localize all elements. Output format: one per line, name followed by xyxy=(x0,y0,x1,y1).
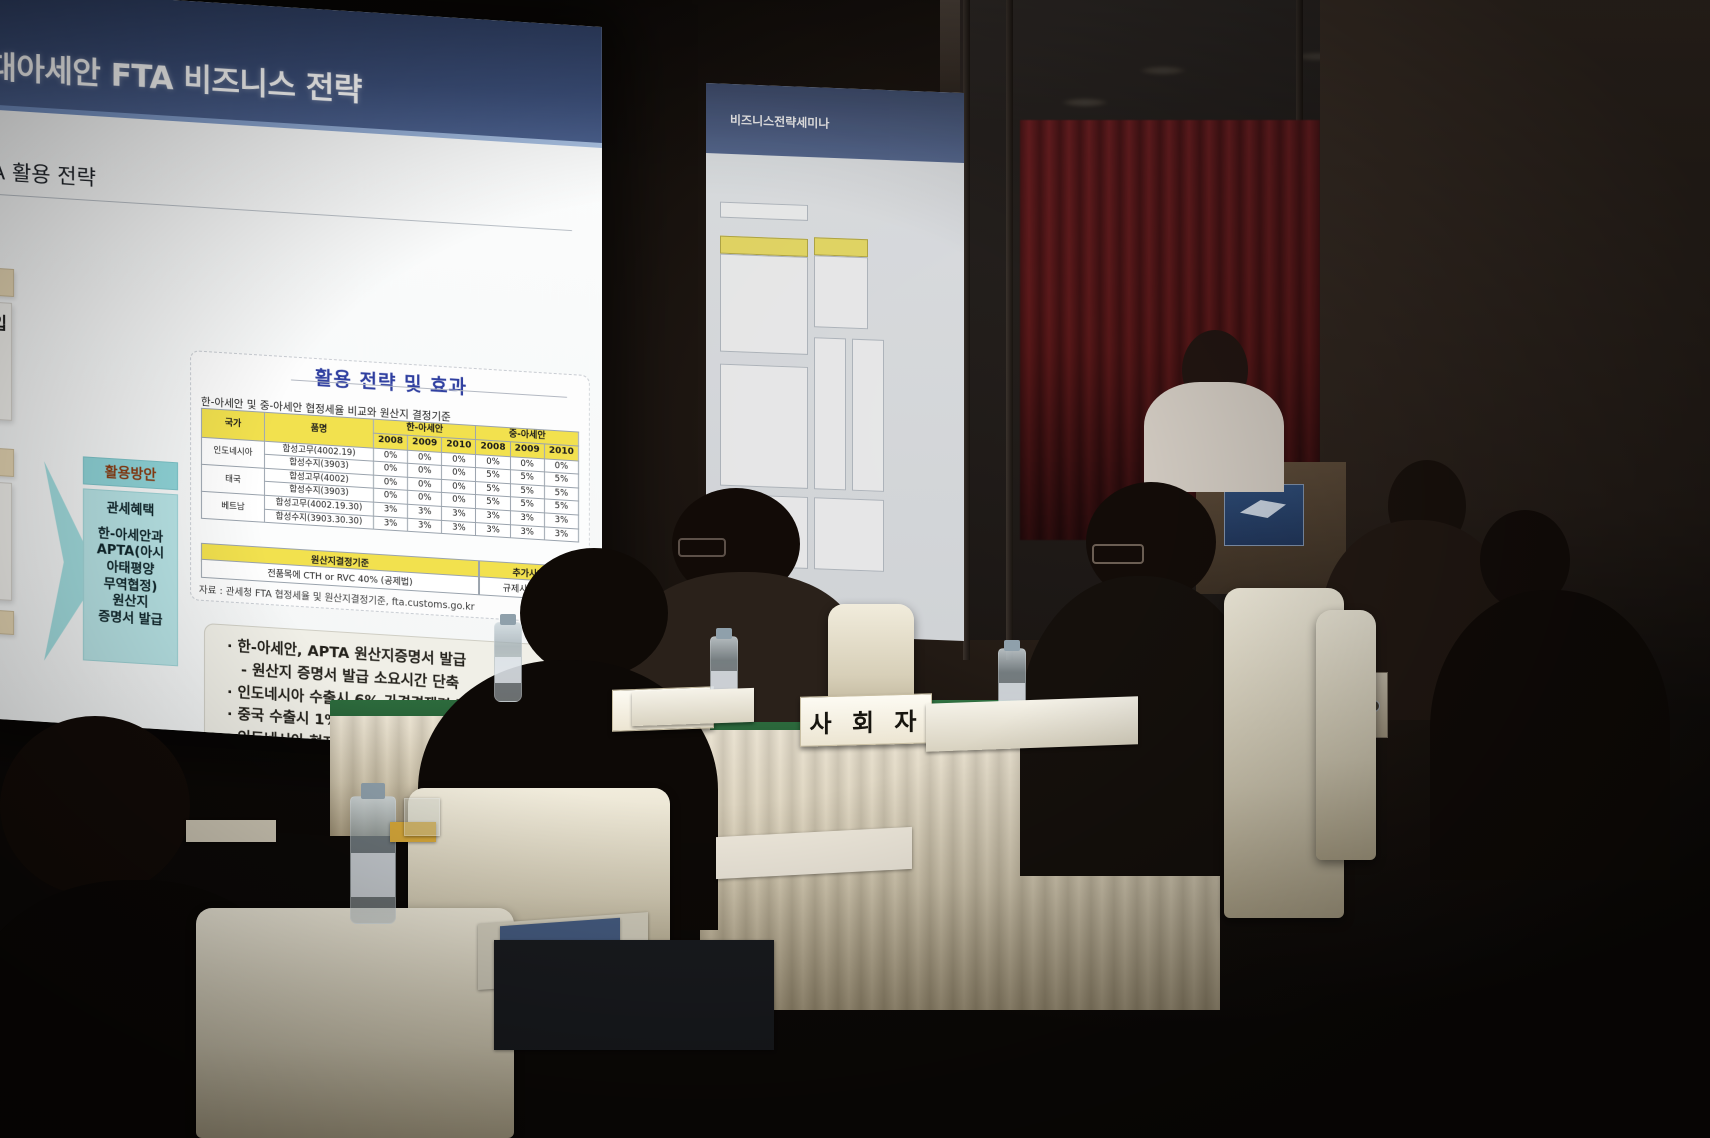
secondary-screen-block xyxy=(720,202,808,221)
open-booklet xyxy=(926,696,1138,751)
cell-country: 태국 xyxy=(202,464,265,495)
cell-rate: 3% xyxy=(476,522,510,538)
secondary-screen-block xyxy=(852,339,884,492)
secondary-screen-block xyxy=(814,497,884,572)
flow-white-box: 간 진입 xyxy=(0,299,12,421)
bottle-cap xyxy=(716,628,732,639)
cell-country: 인도네시아 xyxy=(202,437,265,468)
th-country: 국가 xyxy=(202,408,265,440)
secondary-screen-block xyxy=(720,254,808,355)
glasses-icon xyxy=(1092,544,1144,564)
secondary-screen-block xyxy=(720,364,808,489)
bottle-label xyxy=(495,657,521,683)
cell-rate: 3% xyxy=(510,524,544,540)
section-divider xyxy=(0,192,572,231)
water-bottle[interactable] xyxy=(350,796,396,924)
panel-line-4: 아태평양 xyxy=(107,560,155,578)
secondary-screen-title: 비즈니스전략세미나 xyxy=(706,83,964,163)
secondary-screen-block xyxy=(814,337,846,490)
secondary-screen-block xyxy=(814,237,868,257)
slide-title: 의 대아세안 FTA 비즈니스 전략 xyxy=(0,39,362,110)
drinking-glass[interactable] xyxy=(404,798,440,836)
panel-line-6: 원산지 xyxy=(113,593,149,610)
secondary-screen-block xyxy=(814,255,868,329)
open-booklet xyxy=(632,688,754,726)
bottle-cap xyxy=(361,783,385,799)
bottle-cap xyxy=(500,614,516,625)
usage-panel-header: 활용방안 xyxy=(83,456,178,490)
panel-line-5: 무역협정) xyxy=(104,576,158,594)
window-mullion xyxy=(963,0,970,660)
flow-tan-box xyxy=(0,265,14,297)
placard-right-text: 사 회 자 xyxy=(810,701,923,739)
section-heading: FTA 활용 전략 xyxy=(0,154,96,192)
window-mullion xyxy=(1006,0,1013,660)
usage-panel-header-label: 활용방안 xyxy=(105,462,157,485)
flow-box-label: 간 진입 xyxy=(0,306,7,334)
paper-sheet xyxy=(186,820,276,842)
chair xyxy=(1316,610,1376,860)
photo-scene: 비즈니스전략세미나 의 대아세안 FTA 비즈니스 전략 FTA 활용 전략 간… xyxy=(0,0,1710,1138)
speaker-body xyxy=(1144,382,1284,492)
cell-rate: 3% xyxy=(544,527,578,543)
flow-white-box xyxy=(0,479,12,601)
flow-tan-box xyxy=(0,445,14,477)
cell-rate: 3% xyxy=(442,520,476,536)
usage-panel-body: 관세혜택 한-아세안과 APTA(아시 아태평양 무역협정) 원산지 증명서 발… xyxy=(83,488,178,666)
name-placard-moderator: 사 회 자 xyxy=(800,693,932,746)
cell-rate: 3% xyxy=(374,516,408,532)
table-pad xyxy=(494,940,774,1050)
tariff-table: 국가 품명 한-아세안 중-아세안 2008 2009 2010 2008 20… xyxy=(201,408,579,543)
chair xyxy=(196,908,514,1138)
attendee-head-bottomleft xyxy=(0,716,190,896)
cell-country: 베트남 xyxy=(202,491,265,522)
glasses-icon xyxy=(678,538,726,557)
cell-rate: 3% xyxy=(408,518,442,534)
audience-body xyxy=(1430,590,1670,880)
water-bottle[interactable] xyxy=(494,622,522,702)
panel-line-7: 증명서 발급 xyxy=(98,609,162,628)
attendee-head-center xyxy=(520,548,668,678)
panel-line-1: 관세혜택 xyxy=(107,501,155,519)
bottle-cap xyxy=(1004,640,1020,651)
flow-tan-box xyxy=(0,607,14,635)
bottle-label xyxy=(351,853,395,897)
